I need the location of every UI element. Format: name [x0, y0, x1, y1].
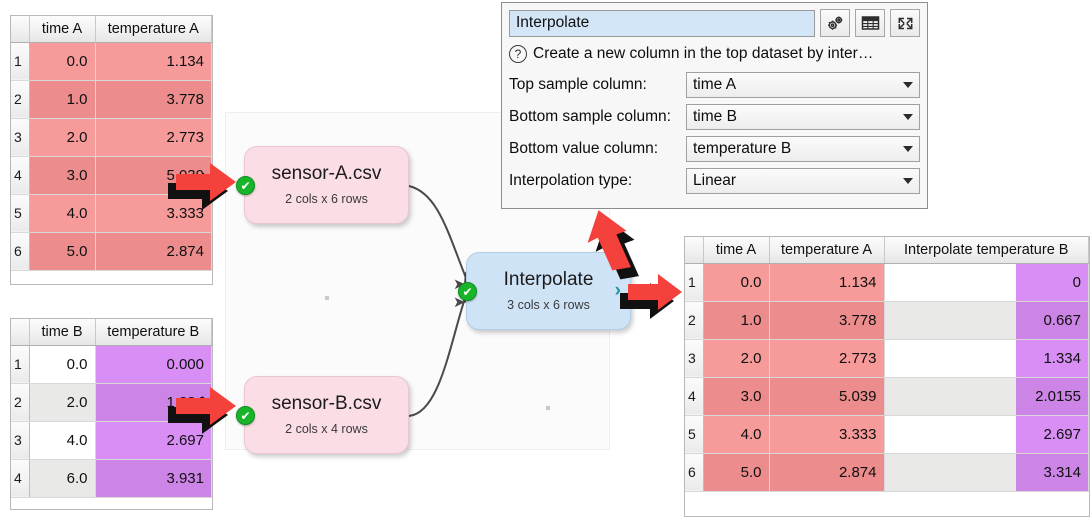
output-table-panel[interactable]: time A temperature A Interpolate tempera…	[684, 236, 1090, 517]
row-number[interactable]: 6	[11, 232, 29, 270]
table-cell[interactable]: 2.874	[769, 453, 884, 491]
field-dropdown[interactable]: time A	[686, 72, 920, 98]
interpolated-value[interactable]: 3.314	[1016, 454, 1088, 491]
table-cell[interactable]: 0.000	[95, 345, 212, 383]
node-interpolate[interactable]: ➤ ➤ ✔ Interpolate 3 cols x 6 rows ›	[466, 252, 631, 330]
table-row[interactable]: 43.05.0392.0155	[685, 377, 1089, 415]
row-number[interactable]: 6	[685, 453, 703, 491]
help-icon[interactable]: ?	[509, 45, 527, 63]
cell-pad	[885, 302, 1017, 339]
field-value: time B	[693, 108, 897, 126]
table-cell[interactable]: 2.0	[29, 118, 95, 156]
table-cell[interactable]: 1.334	[95, 383, 212, 421]
node-title: sensor-B.csv	[272, 394, 382, 415]
node-subtitle: 3 cols x 6 rows	[507, 298, 590, 312]
table-cell[interactable]: 3.0	[703, 377, 769, 415]
cell-pad	[885, 454, 1017, 491]
column-header[interactable]: time A	[29, 16, 95, 42]
table-row[interactable]: 43.05.039	[11, 156, 212, 194]
chevron-down-icon	[903, 146, 913, 152]
row-number[interactable]: 2	[11, 383, 29, 421]
interpolated-value[interactable]: 2.697	[1016, 416, 1088, 453]
node-output-port[interactable]: ›	[615, 281, 621, 300]
table-view-button[interactable]	[855, 9, 885, 37]
cell-pad	[885, 416, 1017, 453]
interpolate-properties-dialog[interactable]: Interpolate	[501, 2, 928, 209]
dialog-field-row: Bottom value column:temperature B	[509, 136, 920, 162]
node-status-ok-icon: ✔	[458, 282, 477, 301]
table-row[interactable]: 54.03.3332.697	[685, 415, 1089, 453]
field-label: Interpolation type:	[509, 172, 686, 190]
help-text: Create a new column in the top dataset b…	[533, 45, 873, 63]
column-header[interactable]: temperature A	[769, 237, 884, 263]
table-cell[interactable]: 0	[884, 263, 1089, 301]
interpolated-value[interactable]: 0	[1016, 264, 1088, 301]
table-cell[interactable]: 5.039	[95, 156, 212, 194]
row-number[interactable]: 3	[11, 421, 29, 459]
settings-gears-icon	[826, 15, 845, 32]
chevron-down-icon	[903, 114, 913, 120]
node-subtitle: 2 cols x 4 rows	[285, 422, 368, 436]
table-cell[interactable]: 0.0	[29, 42, 95, 80]
table-cell[interactable]: 1.334	[884, 339, 1089, 377]
chevron-down-icon	[903, 82, 913, 88]
table-cell[interactable]: 3.778	[769, 301, 884, 339]
table-row[interactable]: 32.02.7731.334	[685, 339, 1089, 377]
table-cell[interactable]: 5.0	[703, 453, 769, 491]
table-cell[interactable]: 6.0	[29, 459, 95, 497]
row-number[interactable]: 5	[685, 415, 703, 453]
field-dropdown[interactable]: Linear	[686, 168, 920, 194]
table-cell[interactable]: 3.0	[29, 156, 95, 194]
dialog-field-row: Top sample column:time A	[509, 72, 920, 98]
row-number[interactable]: 3	[11, 118, 29, 156]
table-row[interactable]: 65.02.8743.314	[685, 453, 1089, 491]
table-cell[interactable]: 2.0155	[884, 377, 1089, 415]
table-cell[interactable]: 2.697	[95, 421, 212, 459]
row-number[interactable]: 5	[11, 194, 29, 232]
dialog-field-row: Interpolation type:Linear	[509, 168, 920, 194]
table-cell[interactable]: 0.0	[29, 345, 95, 383]
row-number[interactable]: 2	[685, 301, 703, 339]
settings-gears-button[interactable]	[820, 9, 850, 37]
table-cell[interactable]: 3.333	[95, 194, 212, 232]
row-number[interactable]: 4	[11, 156, 29, 194]
table-cell[interactable]: 2.697	[884, 415, 1089, 453]
interpolated-value[interactable]: 1.334	[1016, 340, 1088, 377]
table-cell[interactable]: 0.0	[703, 263, 769, 301]
sensor-b-table: time B temperature B 10.00.00022.01.3343…	[11, 319, 212, 498]
table-row[interactable]: 46.03.931	[11, 459, 212, 497]
table-row[interactable]: 54.03.333	[11, 194, 212, 232]
field-label: Top sample column:	[509, 76, 686, 94]
expand-button[interactable]	[890, 9, 920, 37]
table-cell[interactable]: 1.134	[769, 263, 884, 301]
field-value: Linear	[693, 172, 897, 190]
column-header[interactable]: temperature B	[95, 319, 212, 345]
table-corner[interactable]	[11, 16, 29, 42]
table-row[interactable]: 10.01.1340	[685, 263, 1089, 301]
table-corner[interactable]	[11, 319, 29, 345]
node-sensor-b[interactable]: ✔ sensor-B.csv 2 cols x 4 rows	[244, 376, 409, 454]
table-corner[interactable]	[685, 237, 703, 263]
table-cell[interactable]: 3.333	[769, 415, 884, 453]
table-cell[interactable]: 2.0	[703, 339, 769, 377]
cell-pad	[885, 264, 1017, 301]
table-row[interactable]: 21.03.7780.667	[685, 301, 1089, 339]
table-header-row: time A temperature A Interpolate tempera…	[685, 237, 1089, 263]
column-header[interactable]: temperature A	[95, 16, 212, 42]
column-header[interactable]: time A	[703, 237, 769, 263]
output-table: time A temperature A Interpolate tempera…	[685, 237, 1089, 492]
field-label: Bottom sample column:	[509, 108, 686, 126]
row-number[interactable]: 1	[685, 263, 703, 301]
table-cell[interactable]: 3.314	[884, 453, 1089, 491]
interpolated-value[interactable]: 2.0155	[1016, 378, 1088, 415]
table-row[interactable]: 10.00.000	[11, 345, 212, 383]
table-header-row: time A temperature A	[11, 16, 212, 42]
table-cell[interactable]: 2.874	[95, 232, 212, 270]
cell-pad	[885, 378, 1017, 415]
table-cell[interactable]: 2.773	[95, 118, 212, 156]
table-row[interactable]: 22.01.334	[11, 383, 212, 421]
table-cell[interactable]: 5.0	[29, 232, 95, 270]
app-root: time A temperature A 10.01.13421.03.7783…	[0, 0, 1091, 518]
sensor-b-table-panel[interactable]: time B temperature B 10.00.00022.01.3343…	[10, 318, 213, 510]
table-header-row: time B temperature B	[11, 319, 212, 345]
table-cell[interactable]: 1.0	[703, 301, 769, 339]
dialog-field-row: Bottom sample column:time B	[509, 104, 920, 130]
dialog-fields: Top sample column:time ABottom sample co…	[509, 72, 920, 194]
table-row[interactable]: 21.03.778	[11, 80, 212, 118]
table-cell[interactable]: 3.931	[95, 459, 212, 497]
table-row[interactable]: 32.02.773	[11, 118, 212, 156]
node-title: Interpolate	[504, 270, 594, 291]
table-cell[interactable]: 1.0	[29, 80, 95, 118]
field-value: time A	[693, 76, 897, 94]
table-cell[interactable]: 5.039	[769, 377, 884, 415]
table-cell[interactable]: 4.0	[29, 421, 95, 459]
table-cell[interactable]: 2.773	[769, 339, 884, 377]
node-subtitle: 2 cols x 6 rows	[285, 192, 368, 206]
field-dropdown[interactable]: temperature B	[686, 136, 920, 162]
row-number[interactable]: 4	[685, 377, 703, 415]
table-cell[interactable]: 4.0	[703, 415, 769, 453]
row-number[interactable]: 3	[685, 339, 703, 377]
row-number[interactable]: 1	[11, 42, 29, 80]
table-cell[interactable]: 4.0	[29, 194, 95, 232]
chevron-down-icon	[903, 178, 913, 184]
field-label: Bottom value column:	[509, 140, 686, 158]
interpolated-value[interactable]: 0.667	[1016, 302, 1088, 339]
column-header[interactable]: Interpolate temperature B	[884, 237, 1089, 263]
table-view-icon	[861, 15, 880, 31]
dialog-help-row: ? Create a new column in the top dataset…	[509, 42, 920, 66]
field-dropdown[interactable]: time B	[686, 104, 920, 130]
table-row[interactable]: 10.01.134	[11, 42, 212, 80]
dialog-title-row: Interpolate	[509, 9, 920, 37]
node-status-ok-icon: ✔	[236, 406, 255, 425]
operation-name-input[interactable]: Interpolate	[509, 10, 815, 37]
node-sensor-a[interactable]: ✔ sensor-A.csv 2 cols x 6 rows	[244, 146, 409, 224]
row-number[interactable]: 1	[11, 345, 29, 383]
table-row[interactable]: 34.02.697	[11, 421, 212, 459]
field-value: temperature B	[693, 140, 897, 158]
table-cell[interactable]: 1.134	[95, 42, 212, 80]
node-status-ok-icon: ✔	[236, 176, 255, 195]
expand-icon	[896, 15, 915, 32]
table-cell[interactable]: 3.778	[95, 80, 212, 118]
cell-pad	[885, 340, 1017, 377]
table-row[interactable]: 65.02.874	[11, 232, 212, 270]
row-number[interactable]: 4	[11, 459, 29, 497]
row-number[interactable]: 2	[11, 80, 29, 118]
table-cell[interactable]: 2.0	[29, 383, 95, 421]
table-cell[interactable]: 0.667	[884, 301, 1089, 339]
node-title: sensor-A.csv	[272, 164, 382, 185]
sensor-a-table: time A temperature A 10.01.13421.03.7783…	[11, 16, 212, 271]
column-header[interactable]: time B	[29, 319, 95, 345]
sensor-a-table-panel[interactable]: time A temperature A 10.01.13421.03.7783…	[10, 15, 213, 285]
